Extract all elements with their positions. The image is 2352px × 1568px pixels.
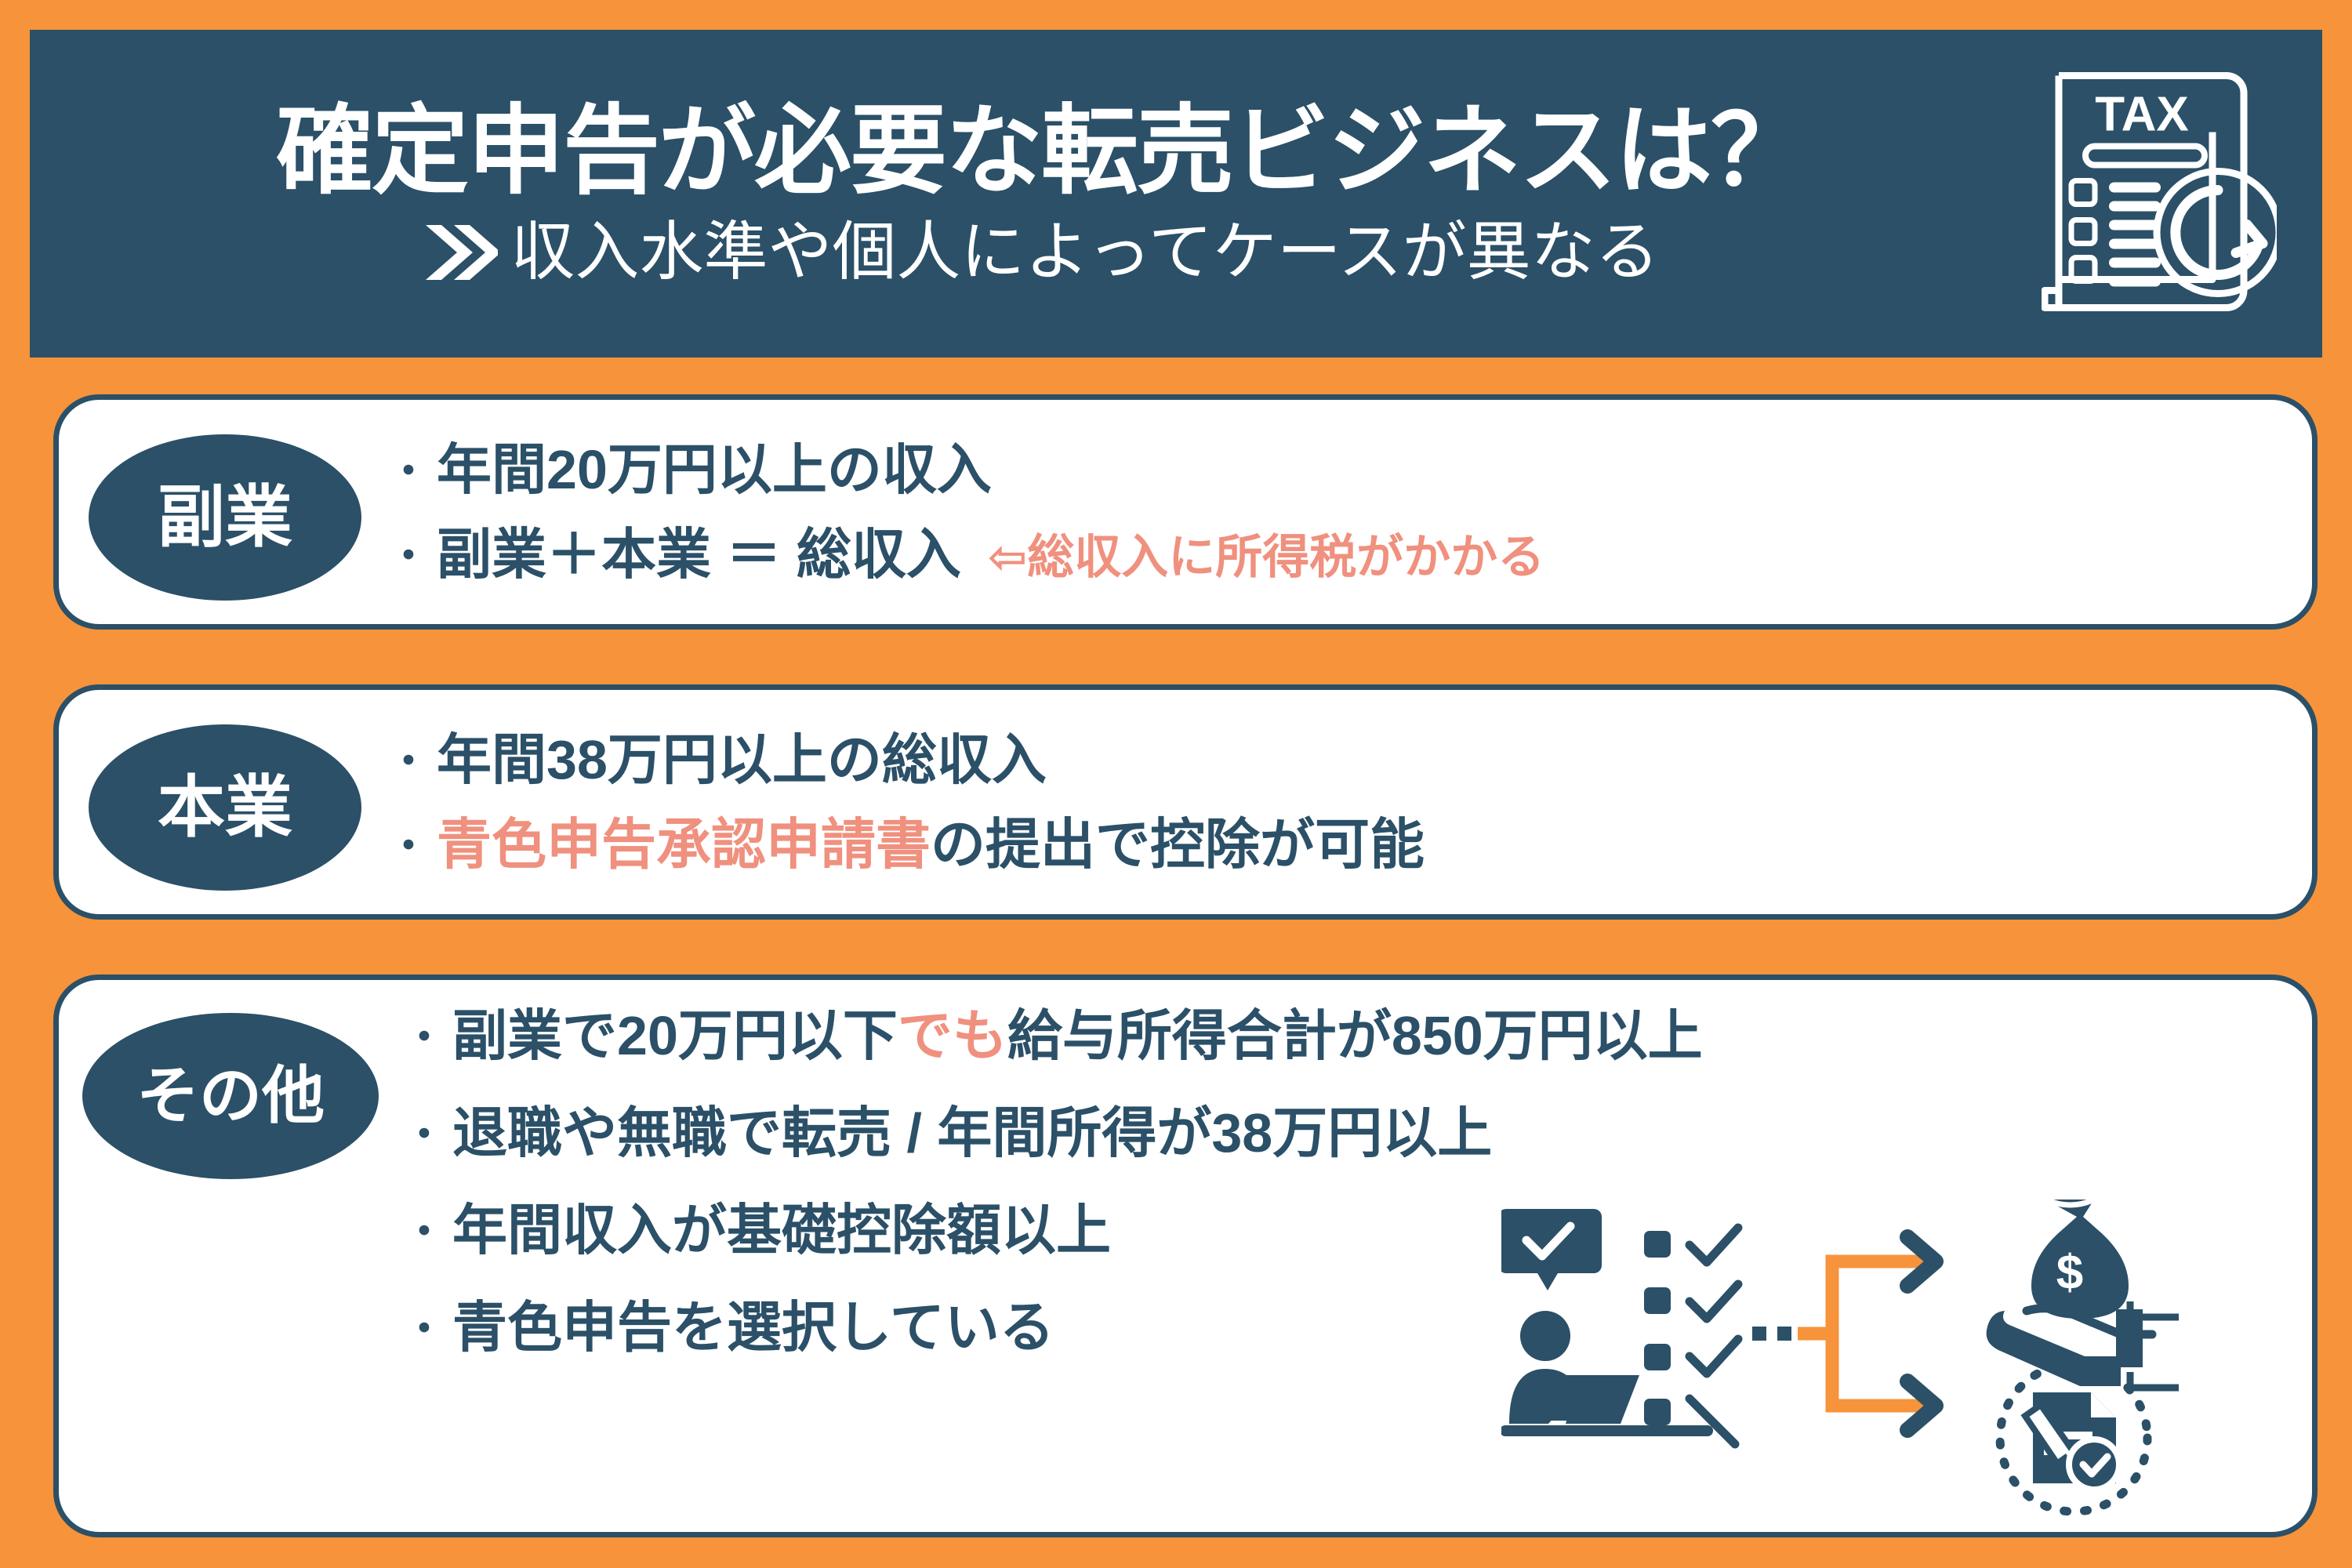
bullet-list: ・ 年間38万円以上の総収入 ・ 青色申告承認申請書 の提出で控除が可能 [388, 690, 2293, 914]
list-item-text: 副業＋本業 ＝ 総収入 [437, 527, 961, 582]
list-item-text: 年間収入が基礎控除額以上 [452, 1203, 1111, 1258]
list-item: ・ 青色申告を選択している [404, 1300, 2293, 1355]
double-chevron-right-icon [423, 222, 498, 283]
card-main-business: 本業 ・ 年間38万円以上の総収入 ・ 青色申告承認申請書 の提出で控除が可能 [53, 684, 2318, 920]
list-item-text: 年間20万円以上の収入 [437, 442, 992, 497]
tax-document-refresh-icon: TAX [2042, 59, 2277, 329]
list-item-text: 退職や無職で転売 / 年間所得が38万円以上 [452, 1105, 1492, 1160]
bullet-dot-icon: ・ [404, 1309, 445, 1350]
list-item: ・ 退職や無職で転売 / 年間所得が38万円以上 [404, 1105, 2293, 1160]
list-item: ・ 年間38万円以上の総収入 [388, 732, 2293, 787]
badge-label: 副業 [158, 484, 292, 551]
bullet-list: ・ 副業で20万円以下 でも 給与所得合計が850万円以上 ・ 退職や無職で転売… [404, 980, 2293, 1532]
list-item: ・ 副業＋本業 ＝ 総収入 ⇦総収入に所得税がかかる [388, 527, 2293, 582]
list-item-text: 青色申告を選択している [452, 1300, 1054, 1355]
list-item-text: の提出で控除が可能 [931, 817, 1425, 872]
badge-side-business: 副業 [89, 434, 361, 601]
list-item-text: 給与所得合計が850万円以上 [1007, 1008, 1703, 1063]
bullet-dot-icon: ・ [404, 1115, 445, 1156]
bullet-dot-icon: ・ [388, 826, 429, 867]
list-item: ・ 青色申告承認申請書 の提出で控除が可能 [388, 817, 2293, 872]
badge-main-business: 本業 [89, 724, 361, 891]
list-item-annotation: ⇦総収入に所得税がかかる [988, 534, 1544, 581]
badge-label: その他 [136, 1065, 325, 1127]
list-item: ・ 副業で20万円以下 でも 給与所得合計が850万円以上 [404, 1008, 2293, 1063]
badge-label: 本業 [158, 774, 292, 841]
tax-icon-label: TAX [2095, 88, 2188, 142]
header-text-block: 確定申告が必要な転売ビジネスは？ 収入水準や個人によってケースが異なる [30, 30, 2037, 358]
page-title: 確定申告が必要な転売ビジネスは？ [276, 103, 1806, 200]
bullet-dot-icon: ・ [388, 742, 429, 782]
card-side-business: 副業 ・ 年間20万円以上の収入 ・ 副業＋本業 ＝ 総収入 ⇦総収入に所得税が… [53, 394, 2318, 630]
bullet-dot-icon: ・ [388, 536, 429, 577]
header-banner: 確定申告が必要な転売ビジネスは？ 収入水準や個人によってケースが異なる TAX [30, 30, 2322, 358]
badge-other-cases: その他 [82, 1013, 379, 1179]
bullet-list: ・ 年間20万円以上の収入 ・ 副業＋本業 ＝ 総収入 ⇦総収入に所得税がかかる [388, 400, 2293, 624]
list-item-text: 年間38万円以上の総収入 [437, 732, 1047, 787]
list-item: ・ 年間収入が基礎控除額以上 [404, 1203, 2293, 1258]
header-subtitle-row: 収入水準や個人によってケースが異なる [423, 220, 1659, 285]
list-item-text-highlight: でも [898, 1008, 1007, 1063]
list-item: ・ 年間20万円以上の収入 [388, 442, 2293, 497]
list-item-text: 副業で20万円以下 [452, 1008, 898, 1063]
bullet-dot-icon: ・ [404, 1212, 445, 1253]
page-subtitle: 収入水準や個人によってケースが異なる [510, 220, 1659, 285]
bullet-dot-icon: ・ [388, 452, 429, 492]
card-other-cases: その他 ・ 副業で20万円以下 でも 給与所得合計が850万円以上 ・ 退職や無… [53, 975, 2318, 1537]
list-item-text-highlight: 青色申告承認申請書 [437, 817, 931, 872]
bullet-dot-icon: ・ [404, 1018, 445, 1058]
